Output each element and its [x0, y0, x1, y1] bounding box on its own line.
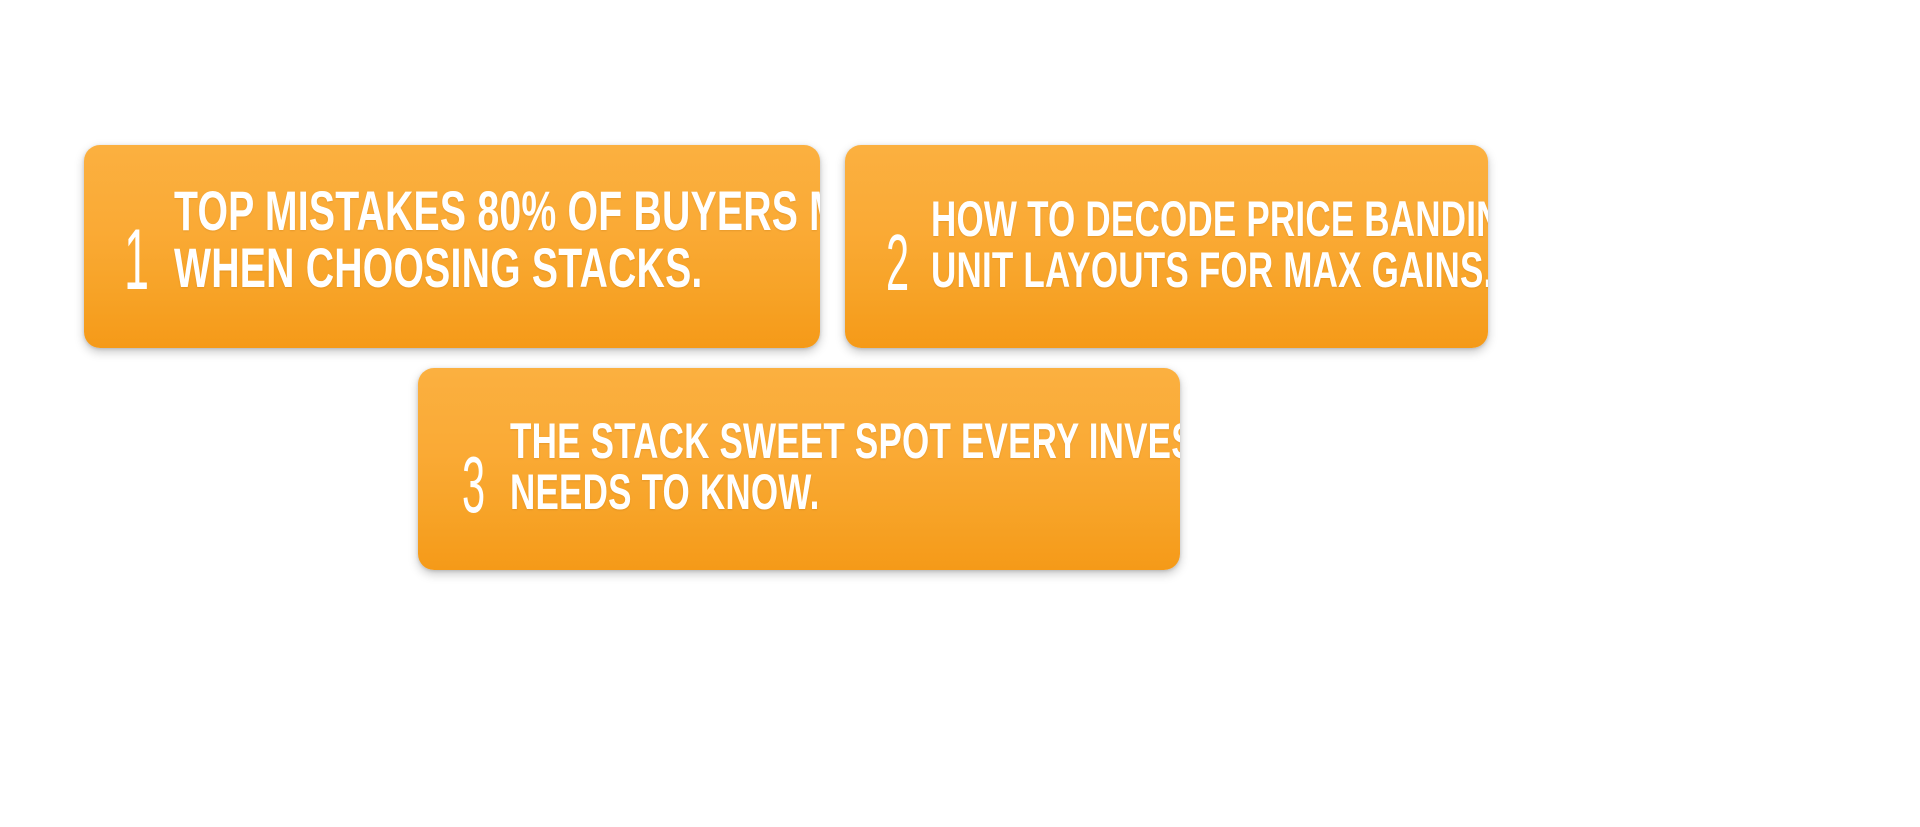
card-3-title: THE STACK SWEET SPOT EVERY INVESTOR NEED… [510, 416, 1180, 518]
highlight-card-1[interactable]: 1 TOP MISTAKES 80% OF BUYERS MAKE WHEN C… [84, 145, 820, 348]
card-2-title-line-1: HOW TO DECODE PRICE BANDING AND [931, 194, 1488, 245]
card-1-title-line-1: TOP MISTAKES 80% OF BUYERS MAKE [174, 182, 820, 239]
card-3-content: 3 THE STACK SWEET SPOT EVERY INVESTOR NE… [418, 416, 1180, 518]
card-3-number: 3 [459, 452, 487, 518]
card-3-title-line-1: THE STACK SWEET SPOT EVERY INVESTOR [510, 416, 1180, 467]
slide-canvas: 1 TOP MISTAKES 80% OF BUYERS MAKE WHEN C… [0, 0, 1920, 827]
card-2-content: 2 HOW TO DECODE PRICE BANDING AND UNIT L… [845, 194, 1488, 296]
card-2-title-line-2: UNIT LAYOUTS FOR MAX GAINS. [931, 245, 1488, 296]
card-1-number: 1 [121, 225, 150, 296]
card-3-title-line-2: NEEDS TO KNOW. [510, 467, 1180, 518]
card-1-content: 1 TOP MISTAKES 80% OF BUYERS MAKE WHEN C… [84, 182, 820, 296]
card-1-title: TOP MISTAKES 80% OF BUYERS MAKE WHEN CHO… [174, 182, 820, 296]
highlight-card-3[interactable]: 3 THE STACK SWEET SPOT EVERY INVESTOR NE… [418, 368, 1180, 570]
card-1-title-line-2: WHEN CHOOSING STACKS. [174, 239, 820, 296]
highlight-card-2[interactable]: 2 HOW TO DECODE PRICE BANDING AND UNIT L… [845, 145, 1488, 348]
card-2-number: 2 [883, 230, 910, 296]
card-2-title: HOW TO DECODE PRICE BANDING AND UNIT LAY… [931, 194, 1488, 296]
